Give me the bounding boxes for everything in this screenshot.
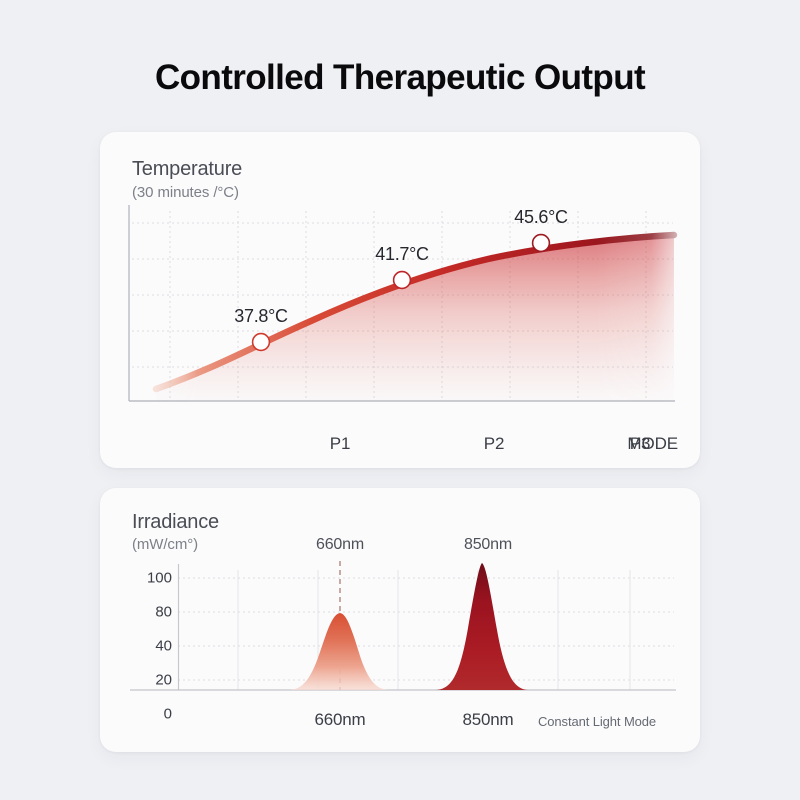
page-title: Controlled Therapeutic Output [0, 58, 800, 98]
irradiance-top-label-850: 850nm [464, 536, 512, 554]
temperature-tick-p1: P1 [330, 434, 351, 454]
irradiance-ytick-20: 20 [128, 672, 172, 689]
page-root: Controlled Therapeutic Output Temperatur… [0, 0, 800, 800]
irradiance-chart-subtitle: (mW/cm°) [132, 536, 198, 553]
irradiance-top-label-660: 660nm [316, 536, 364, 554]
irradiance-ytick-0: 0 [128, 706, 172, 723]
temperature-marker-p1[interactable] [253, 334, 270, 351]
irradiance-card: Irradiance (mW/cm°) 660nm 850nm 100 80 4… [100, 488, 700, 752]
irradiance-bottom-label-850: 850nm [463, 710, 514, 730]
temperature-chart-svg [128, 205, 676, 427]
constant-light-mode-note: Constant Light Mode [538, 714, 656, 729]
irradiance-gridlines [178, 570, 674, 690]
irradiance-ytick-40: 40 [128, 638, 172, 655]
irradiance-ytick-80: 80 [128, 604, 172, 621]
temperature-value-p2: 41.7°C [375, 244, 428, 265]
temperature-value-p3: 45.6°C [514, 207, 567, 228]
irradiance-plot [178, 556, 676, 706]
irradiance-peak-660 [290, 613, 388, 690]
irradiance-bottom-label-660: 660nm [315, 710, 366, 730]
temperature-card: Temperature (30 minutes /°C) [100, 132, 700, 468]
irradiance-chart-title: Irradiance [132, 511, 219, 534]
temperature-chart-title: Temperature [132, 158, 242, 181]
temperature-marker-p3[interactable] [533, 235, 550, 252]
temperature-chart-subtitle: (30 minutes /°C) [132, 184, 239, 201]
temperature-tick-mode: MODE [627, 434, 678, 454]
temperature-marker-p2[interactable] [394, 272, 411, 289]
temperature-tick-p2: P2 [484, 434, 505, 454]
temperature-plot: 37.8°C 41.7°C 45.6°C [128, 205, 676, 427]
irradiance-chart-svg [178, 556, 676, 706]
temperature-x-tick-labels: P1 P2 P3 MODE [100, 434, 700, 462]
irradiance-ytick-100: 100 [128, 570, 172, 587]
temperature-value-p1: 37.8°C [234, 306, 287, 327]
irradiance-peak-850 [436, 563, 528, 690]
